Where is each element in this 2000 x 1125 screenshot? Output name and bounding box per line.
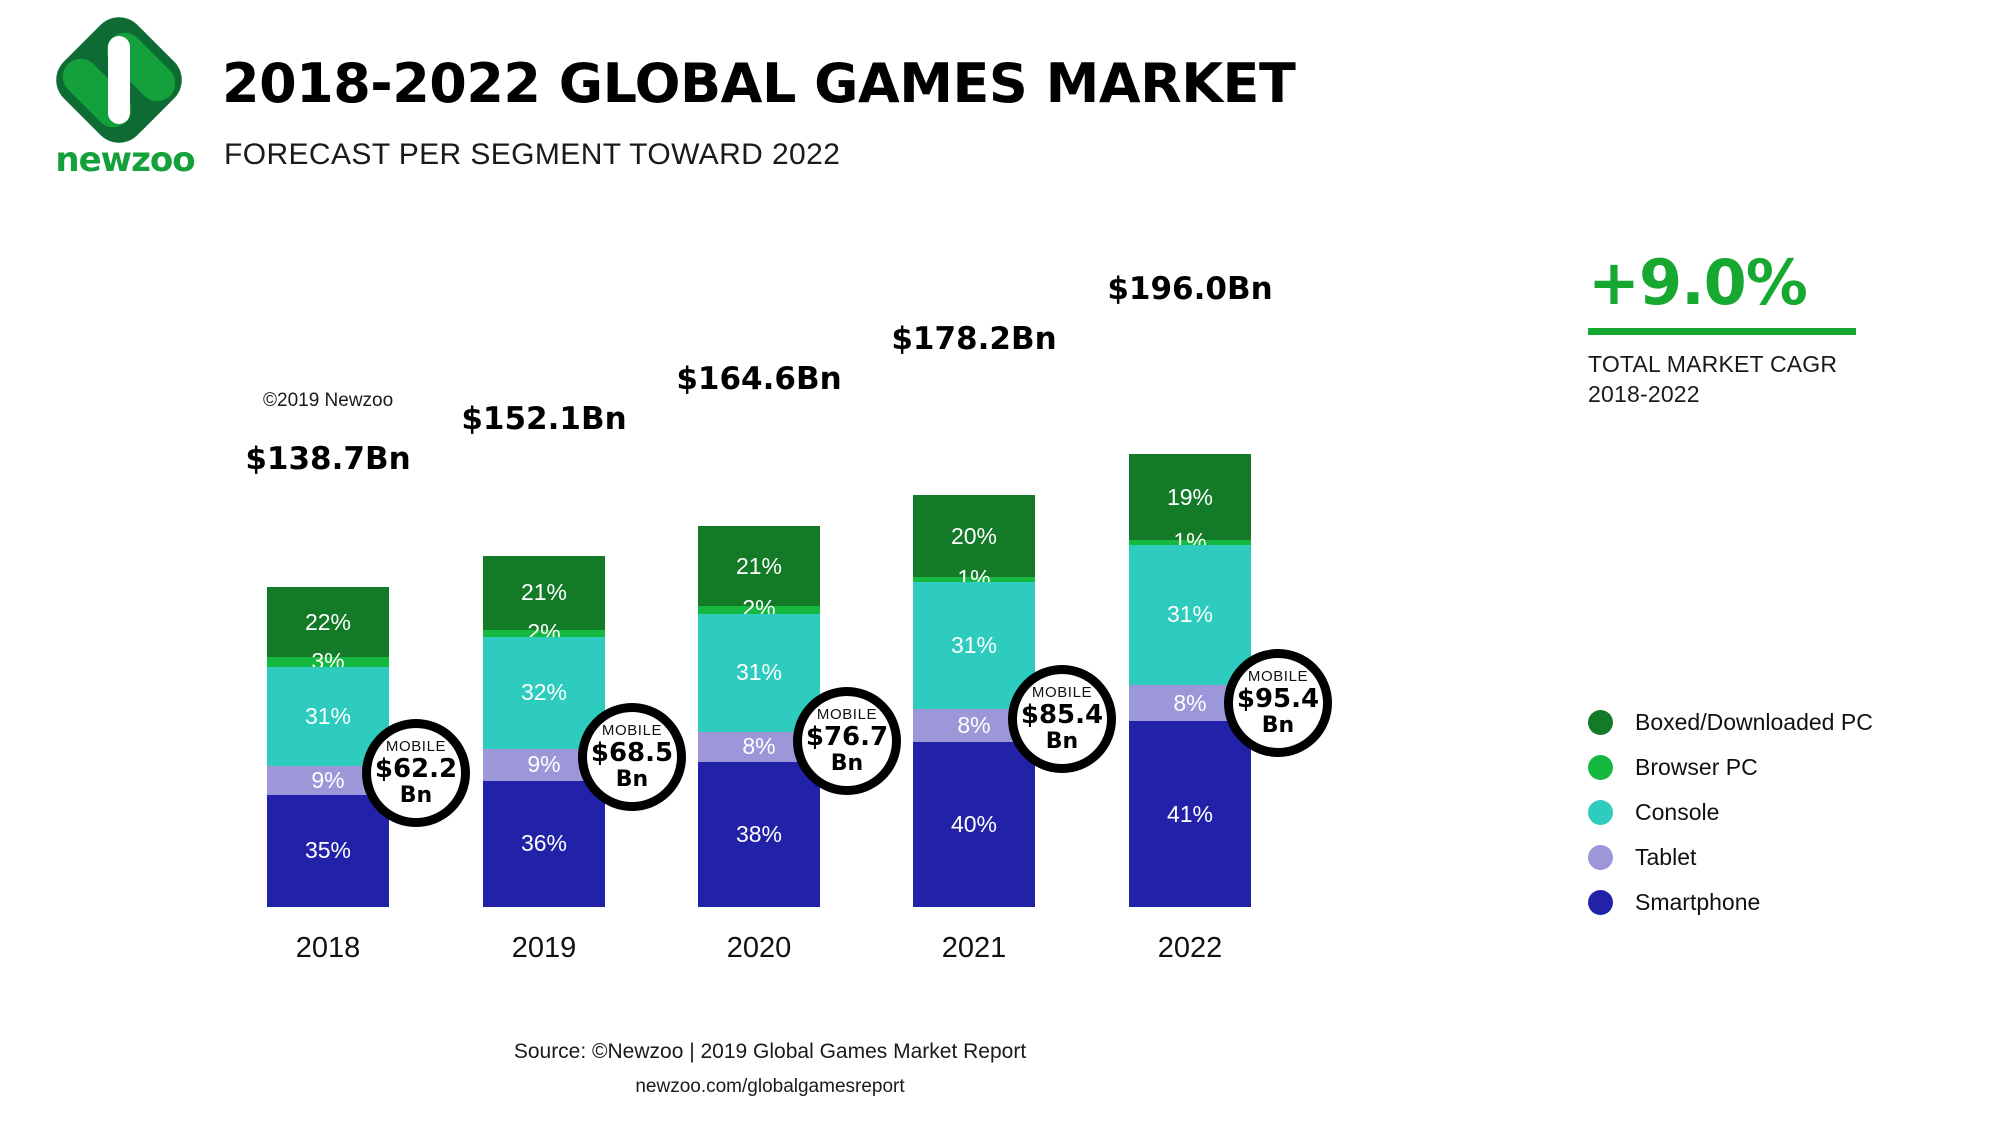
cagr-value: +9.0% (1588, 252, 1918, 314)
segment-label: 21% (736, 553, 782, 580)
x-label-2020: 2020 (727, 932, 792, 965)
bar-total-2019: $152.1Bn (461, 401, 626, 437)
x-label-2021: 2021 (942, 932, 1007, 965)
mobile-callout-2018[interactable]: MOBILE $62.2 Bn (362, 719, 470, 827)
segment-label: 31% (305, 703, 351, 730)
legend-item-tablet[interactable]: Tablet (1588, 835, 1948, 880)
copyright-note: ©2019 Newzoo (263, 390, 393, 412)
segment-label: 38% (736, 821, 782, 848)
legend-item-boxed-downloaded-pc[interactable]: Boxed/Downloaded PC (1588, 700, 1948, 745)
legend-swatch-icon (1588, 890, 1613, 915)
x-label-2019: 2019 (512, 932, 577, 965)
legend-item-smartphone[interactable]: Smartphone (1588, 880, 1948, 925)
segment-2020-smartphone[interactable]: 38% (698, 762, 820, 907)
bar-total-2021: $178.2Bn (891, 321, 1056, 357)
mobile-callout-label: MOBILE (1248, 669, 1308, 684)
segment-label: 41% (1167, 801, 1213, 828)
legend-label: Console (1635, 799, 1719, 826)
mobile-callout-label: MOBILE (386, 739, 446, 754)
legend-swatch-icon (1588, 755, 1613, 780)
segment-label: 31% (1167, 601, 1213, 628)
segment-label: 31% (951, 632, 997, 659)
bar-total-2022: $196.0Bn (1107, 271, 1272, 307)
legend-label: Browser PC (1635, 754, 1758, 781)
segment-2022-console[interactable]: 31% (1129, 545, 1251, 685)
footer-source: Source: ©Newzoo | 2019 Global Games Mark… (0, 1040, 1540, 1064)
segment-label: 8% (1173, 690, 1206, 717)
x-label-2022: 2022 (1158, 932, 1223, 965)
mobile-callout-2019[interactable]: MOBILE $68.5 Bn (578, 703, 686, 811)
segment-label: 32% (521, 679, 567, 706)
segment-label: 8% (957, 712, 990, 739)
legend-label: Smartphone (1635, 889, 1760, 916)
footer: Source: ©Newzoo | 2019 Global Games Mark… (0, 1040, 1540, 1098)
bar-group-2021: $178.2Bn 20% 1% 31% 8% 40% MOBILE $85.4 … (913, 367, 1035, 907)
segment-label: 21% (521, 579, 567, 606)
segment-label: 35% (305, 837, 351, 864)
segment-label: 36% (521, 830, 567, 857)
segment-2022-smartphone[interactable]: 41% (1129, 721, 1251, 907)
mobile-callout-label: MOBILE (1032, 685, 1092, 700)
cagr-caption-line2: 2018-2022 (1588, 379, 1918, 409)
legend-swatch-icon (1588, 845, 1613, 870)
cagr-caption-line1: TOTAL MARKET CAGR (1588, 349, 1918, 379)
stacked-bar-chart: ©2019 Newzoo $138.7Bn 22% 3% 31% 9% 35% … (0, 0, 1540, 1125)
mobile-callout-unit: Bn (616, 768, 648, 791)
segment-2021-smartphone[interactable]: 40% (913, 742, 1035, 907)
segment-label: 31% (736, 659, 782, 686)
legend-swatch-icon (1588, 800, 1613, 825)
cagr-divider (1588, 328, 1856, 335)
mobile-callout-unit: Bn (1046, 730, 1078, 753)
legend-item-console[interactable]: Console (1588, 790, 1948, 835)
footer-url[interactable]: newzoo.com/globalgamesreport (0, 1076, 1540, 1098)
cagr-block: +9.0% TOTAL MARKET CAGR 2018-2022 (1588, 252, 1918, 410)
bar-group-2019: $152.1Bn 21% 2% 32% 9% 36% MOBILE $68.5 … (483, 447, 605, 907)
bar-group-2018: $138.7Bn 22% 3% 31% 9% 35% MOBILE $62.2 … (267, 487, 389, 907)
segment-label: 8% (742, 733, 775, 760)
segment-label: 9% (311, 767, 344, 794)
segment-2018-browser-pc[interactable]: 3% (267, 657, 389, 667)
mobile-callout-2022[interactable]: MOBILE $95.4 Bn (1224, 649, 1332, 757)
mobile-callout-unit: Bn (400, 784, 432, 807)
bar-total-2018: $138.7Bn (245, 441, 410, 477)
mobile-callout-2020[interactable]: MOBILE $76.7 Bn (793, 687, 901, 795)
segment-2018-smartphone[interactable]: 35% (267, 795, 389, 907)
bar-group-2020: $164.6Bn 21% 2% 31% 8% 38% MOBILE $76.7 … (698, 407, 820, 907)
segment-label: 19% (1167, 484, 1213, 511)
mobile-callout-value: $85.4 (1021, 702, 1103, 729)
chart-legend: Boxed/Downloaded PC Browser PC Console T… (1588, 700, 1948, 925)
x-label-2018: 2018 (296, 932, 361, 965)
legend-swatch-icon (1588, 710, 1613, 735)
mobile-callout-value: $76.7 (806, 724, 888, 751)
segment-label: 22% (305, 609, 351, 636)
mobile-callout-unit: Bn (831, 752, 863, 775)
mobile-callout-value: $62.2 (375, 756, 457, 783)
cagr-caption: TOTAL MARKET CAGR 2018-2022 (1588, 349, 1918, 410)
segment-label: 40% (951, 811, 997, 838)
bar-group-2022: $196.0Bn 19% 1% 31% 8% 41% MOBILE $95.4 … (1129, 317, 1251, 907)
bar-total-2020: $164.6Bn (676, 361, 841, 397)
segment-2020-browser-pc[interactable]: 2% (698, 606, 820, 614)
segment-2019-smartphone[interactable]: 36% (483, 781, 605, 907)
mobile-callout-value: $68.5 (591, 740, 673, 767)
mobile-callout-value: $95.4 (1237, 686, 1319, 713)
legend-item-browser-pc[interactable]: Browser PC (1588, 745, 1948, 790)
segment-2019-browser-pc[interactable]: 2% (483, 630, 605, 637)
mobile-callout-label: MOBILE (602, 723, 662, 738)
mobile-callout-label: MOBILE (817, 707, 877, 722)
segment-label: 9% (527, 751, 560, 778)
legend-label: Boxed/Downloaded PC (1635, 709, 1873, 736)
segment-2020-boxed-pc[interactable]: 21% (698, 526, 820, 606)
legend-label: Tablet (1635, 844, 1696, 871)
mobile-callout-unit: Bn (1262, 714, 1294, 737)
segment-label: 20% (951, 523, 997, 550)
mobile-callout-2021[interactable]: MOBILE $85.4 Bn (1008, 665, 1116, 773)
